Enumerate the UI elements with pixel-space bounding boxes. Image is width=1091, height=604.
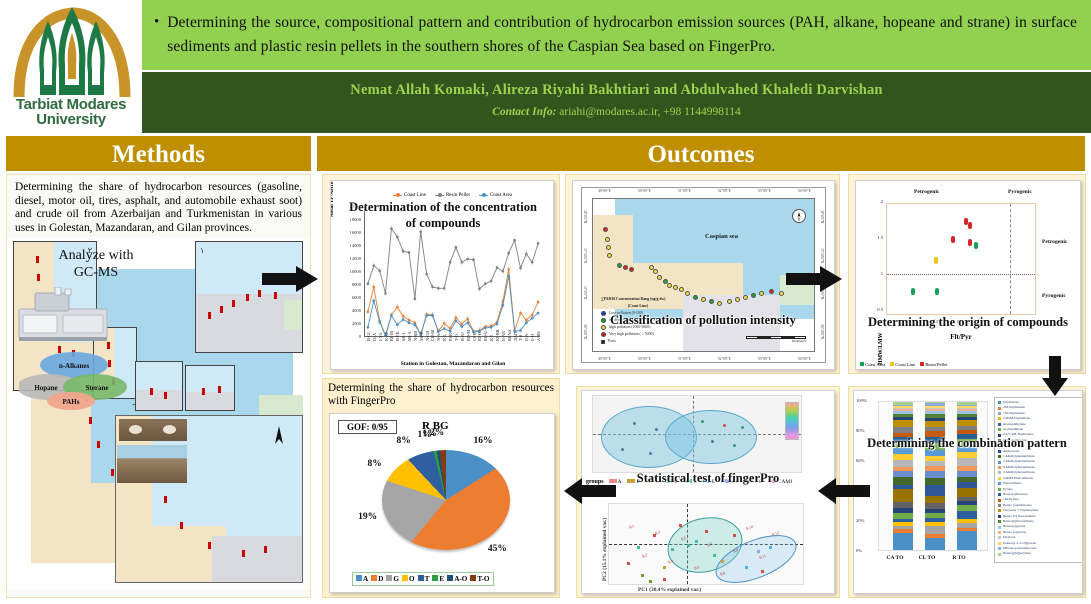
map-sample-dot bbox=[657, 275, 662, 280]
map-sample-dot bbox=[617, 263, 622, 268]
legend-swatch bbox=[998, 412, 1001, 415]
legend-swatch bbox=[998, 520, 1001, 523]
scatter-point bbox=[911, 288, 915, 295]
stack-segment bbox=[893, 533, 913, 549]
origin-y-axis-label: HMW/LMW bbox=[878, 333, 884, 365]
quadrant-label-pyrogenic-top: Pyrogenic bbox=[1008, 189, 1032, 195]
stack-segment bbox=[925, 471, 945, 478]
pca-point bbox=[663, 578, 666, 581]
map-y-tick: 38°0'0"N bbox=[583, 210, 587, 223]
map-sample-dot bbox=[606, 245, 611, 250]
x-tick: JIAII bbox=[513, 332, 518, 341]
x-tick: CH-BI bbox=[430, 330, 435, 341]
legend-swatch bbox=[601, 340, 605, 344]
map-sample-dot bbox=[769, 289, 774, 294]
svg-text:Sterane: Sterane bbox=[86, 384, 109, 392]
map-x-tick: 51°0'0"E bbox=[678, 189, 691, 193]
x-tick: RO-U bbox=[483, 331, 488, 341]
svg-text:n-Alkanes: n-Alkanes bbox=[59, 362, 90, 370]
map-scale-bar: Kilometers bbox=[746, 335, 806, 343]
pca-point-label: K2 bbox=[641, 552, 647, 558]
scatter-point bbox=[934, 257, 938, 264]
pca-point bbox=[721, 560, 724, 563]
pca-point-label: K1 bbox=[628, 523, 634, 529]
legend-item-coast-area: Coast Area bbox=[860, 362, 885, 367]
y-tick: 10000 bbox=[333, 269, 361, 274]
map-sample-dot bbox=[679, 287, 684, 292]
stack-segment bbox=[957, 458, 977, 465]
stacked-y-tick: 60% bbox=[856, 458, 864, 463]
map-sample-dot bbox=[693, 295, 698, 300]
stacked-bar-ca-to bbox=[893, 402, 913, 550]
x-tick: A-BS bbox=[536, 331, 541, 341]
pie-slice-value: 2% bbox=[430, 428, 444, 438]
outcome-panel-fingerpro: Determining the share of hydrocarbon res… bbox=[322, 378, 560, 598]
legend-title-line2: (Coast Line) bbox=[601, 303, 675, 310]
map-canvas: Caspian sea ∑PAH16 Concentration Rang (n… bbox=[592, 198, 815, 352]
x-tick: T-O bbox=[454, 334, 459, 341]
methods-column: Determining the share of hydrocarbon res… bbox=[6, 174, 311, 598]
legend-swatch bbox=[998, 493, 1001, 496]
pca-point bbox=[695, 540, 698, 543]
map-inset-5 bbox=[185, 365, 235, 411]
category-r-to: R TO bbox=[944, 555, 974, 561]
flow-arrow-1-icon bbox=[262, 266, 318, 292]
pca-y-axis-label: PC2 (15.1% explained var.) bbox=[602, 518, 608, 581]
map-sample-dot bbox=[623, 265, 628, 270]
analyze-label-line2: GC-MS bbox=[74, 265, 118, 280]
pca-point bbox=[761, 570, 764, 573]
map-legend-item: Ports bbox=[601, 338, 675, 345]
beach-photo bbox=[117, 445, 187, 483]
legend-title-line1: ∑PAH16 Concentration Rang (ng/g dw) bbox=[601, 296, 675, 303]
concentration-x-axis-label: Station in Golestan, Mazandaran and Gila… bbox=[353, 361, 553, 367]
concentration-chart-legend: Coast Line Resin Pellet Coast Area bbox=[393, 193, 512, 198]
legend-label: Benzo(ghi)perylene bbox=[1003, 551, 1031, 556]
pie-legend-item: D bbox=[371, 575, 383, 583]
scatter-point bbox=[968, 222, 972, 229]
stacked-bar-r-to bbox=[957, 402, 977, 550]
bullet-icon: • bbox=[152, 11, 167, 59]
analyze-label-line1: Analyze with bbox=[58, 248, 133, 263]
map-inset-number-1: ۱ bbox=[200, 246, 204, 255]
stack-segment bbox=[925, 478, 945, 485]
poster-title: Determining the source, compositional pa… bbox=[167, 11, 1077, 59]
map-sample-dot bbox=[717, 301, 722, 306]
title-band: • Determining the source, compositional … bbox=[142, 0, 1091, 70]
x-tick: B-GI bbox=[366, 332, 371, 341]
outcome-panel-concentration: Coast Line Resin Pellet Coast Area Mean … bbox=[322, 174, 560, 374]
y-tick: 4000 bbox=[333, 308, 361, 313]
stack-segment bbox=[957, 531, 977, 550]
map-x-tick: 54°0'0"E bbox=[798, 189, 811, 193]
legend-swatch bbox=[998, 423, 1001, 426]
legend-swatch bbox=[998, 482, 1001, 485]
pie-legend-label: A-O bbox=[454, 575, 467, 583]
step-label-pca: Statistical test of fingerPro bbox=[581, 471, 835, 486]
stack-segment bbox=[893, 477, 913, 484]
pie-slice-value: 8% bbox=[396, 436, 410, 446]
svg-text:Hopane: Hopane bbox=[34, 384, 57, 392]
x-tick: K-I bbox=[489, 335, 494, 341]
origin-x-axis-label: Flt/Pyr bbox=[886, 333, 1036, 341]
combination-card: 0%20%40%60%80%100% CA TO CL TO R TO Naph… bbox=[853, 390, 1083, 594]
outcome-panel-combination: 0%20%40%60%80%100% CA TO CL TO R TO Naph… bbox=[848, 386, 1086, 598]
legend-swatch bbox=[998, 509, 1001, 512]
stack-segment bbox=[925, 485, 945, 495]
map-sample-dot bbox=[653, 269, 658, 274]
legend-swatch bbox=[998, 488, 1001, 491]
origin-y-ticks: 2 1.5 1 0.5 bbox=[856, 201, 886, 315]
x-tick: SH-K bbox=[419, 331, 424, 341]
flow-arrow-3-icon bbox=[1042, 356, 1068, 396]
legend-swatch bbox=[998, 531, 1001, 534]
north-arrow-icon bbox=[274, 426, 284, 446]
stack-segment bbox=[893, 460, 913, 467]
stack-segment bbox=[925, 496, 945, 503]
legend-swatch bbox=[998, 471, 1001, 474]
legend-swatch bbox=[601, 332, 606, 337]
legend-swatch bbox=[998, 515, 1001, 518]
category-cl-to: CL TO bbox=[912, 555, 942, 561]
pie-slice-value: 8% bbox=[367, 459, 381, 469]
x-tick: PI-K bbox=[448, 333, 453, 341]
pie-slice-value: 19% bbox=[358, 512, 377, 522]
pca-point bbox=[663, 566, 666, 569]
x-tick: I-YA bbox=[378, 333, 383, 341]
legend-swatch bbox=[998, 547, 1001, 550]
step-label-fingerpro-share: Determining the share of hydrocarbon res… bbox=[323, 379, 559, 410]
category-ca-to: CA TO bbox=[880, 555, 910, 561]
legend-item-coast-line: Coast Line bbox=[890, 362, 915, 367]
stack-segment bbox=[893, 420, 913, 427]
x-tick: IS-A bbox=[372, 333, 377, 341]
quadrant-label-pyrogenic-right: Pyrogenic bbox=[1042, 293, 1066, 299]
pie-legend-item: O bbox=[402, 575, 415, 583]
pie-legend-label: O bbox=[409, 575, 415, 583]
map-x-tick: 49°0'0"E bbox=[598, 357, 611, 361]
pca-point bbox=[757, 550, 760, 553]
map-sample-dot bbox=[701, 297, 706, 302]
y-tick: 6000 bbox=[333, 295, 361, 300]
map-y-tick: 37°30'0"N bbox=[820, 248, 824, 263]
legend-swatch bbox=[998, 499, 1001, 502]
logo-text: Tarbiat Modares University bbox=[5, 97, 137, 127]
x-tick: BI-NA bbox=[507, 329, 512, 341]
map-y-tick: 38°0'0"N bbox=[820, 210, 824, 223]
map-x-tick: 50°0'0"E bbox=[638, 357, 651, 361]
pca-point bbox=[637, 546, 640, 549]
pca-point bbox=[745, 566, 748, 569]
map-y-tick: 37°30'0"N bbox=[583, 248, 587, 263]
stack-segment bbox=[925, 538, 945, 550]
pie-legend-label: D bbox=[378, 575, 383, 583]
legend-item-resin-pellet: Resin Pellet bbox=[435, 193, 470, 198]
legend-swatch bbox=[998, 526, 1001, 529]
y-tick: 8000 bbox=[333, 282, 361, 287]
pca-point-label: K10 bbox=[745, 524, 753, 531]
map-x-tick: 49°0'0"E bbox=[598, 189, 611, 193]
analyze-label: Analyze with GC-MS bbox=[31, 247, 161, 281]
pca-point bbox=[649, 580, 652, 583]
contact-label: Contact Info: bbox=[492, 106, 556, 118]
map-x-tick: 50°0'0"E bbox=[638, 189, 651, 193]
fingerpro-pie-card: GOF: 0/95 R BG 16%45%19%8%8%1%1%2% ADGOT… bbox=[329, 413, 555, 593]
legend-swatch bbox=[998, 466, 1001, 469]
y-tick: 12000 bbox=[333, 256, 361, 261]
pie-legend-label: G bbox=[393, 575, 399, 583]
logo-name-line1: Tarbiat Modares bbox=[16, 96, 126, 113]
map-sample-dot bbox=[667, 283, 672, 288]
authors-list: Nemat Allah Komaki, Alireza Riyahi Bakht… bbox=[142, 82, 1091, 99]
stack-segment bbox=[957, 488, 977, 497]
map-x-tick: 54°0'0"E bbox=[798, 357, 811, 361]
section-header-outcomes: Outcomes bbox=[317, 136, 1085, 171]
section-header-methods: Methods bbox=[6, 136, 311, 171]
quadrant-label-petrogenic-top: Petrogenic bbox=[914, 189, 939, 195]
pca-top-plot bbox=[592, 395, 802, 473]
poster-header: Tarbiat Modares University • Determining… bbox=[0, 0, 1091, 133]
map-x-tick: 53°0'0"E bbox=[758, 357, 771, 361]
map-x-tick: 51°0'0"E bbox=[678, 357, 691, 361]
x-tick: B-RJ bbox=[460, 332, 465, 341]
gcms-instrument-icon bbox=[15, 287, 113, 343]
pca-point bbox=[671, 548, 674, 551]
map-sample-dot bbox=[709, 299, 714, 304]
pie-legend-item: T-O bbox=[470, 575, 489, 583]
pie-chart-legend: ADGOTEA-OT-O bbox=[352, 572, 494, 586]
resin-pellet-photo bbox=[119, 419, 187, 441]
logo-name-line2: University bbox=[5, 112, 137, 127]
step-label-origin: Determining the origin of compounds bbox=[851, 315, 1085, 330]
pca-card: PCA groups ADGOTEA-OT-OCAM1 K1K2K3K4K5K6… bbox=[581, 390, 835, 594]
map-sample-dot bbox=[727, 299, 732, 304]
methods-paragraph: Determining the share of hydrocarbon res… bbox=[7, 175, 310, 237]
map-sample-dot bbox=[743, 295, 748, 300]
scatter-point bbox=[968, 239, 972, 246]
flow-arrow-2-icon bbox=[786, 266, 842, 292]
stack-segment bbox=[925, 526, 945, 533]
stacked-y-tick: 80% bbox=[856, 428, 864, 433]
pie-legend-item: A-O bbox=[447, 575, 467, 583]
legend-swatch bbox=[998, 553, 1001, 556]
pca-point bbox=[713, 554, 716, 557]
x-tick: II-A bbox=[524, 334, 529, 341]
stacked-y-tick: 0% bbox=[856, 548, 862, 553]
x-tick: II-AR bbox=[501, 331, 506, 341]
scatter-point bbox=[935, 288, 939, 295]
map-sample-dot bbox=[605, 237, 610, 242]
y-tick: 0 bbox=[333, 334, 361, 339]
x-tick: E-O bbox=[530, 334, 535, 341]
pie-legend-item: E bbox=[432, 575, 444, 583]
pca-x-axis-label: PC1 (30.4% explained var.) bbox=[638, 587, 701, 593]
pca-point-label: K3 bbox=[654, 529, 660, 535]
legend-label: Ports bbox=[608, 338, 616, 345]
map-sample-dot bbox=[629, 267, 634, 272]
map-sample-dot bbox=[735, 297, 740, 302]
concentration-y-axis-label: Mean TP-AH16 (ng/g dw) bbox=[330, 180, 335, 217]
pie-legend-item: G bbox=[386, 575, 399, 583]
map-sample-dot bbox=[603, 227, 608, 232]
x-tick: KI-O bbox=[477, 332, 482, 341]
legend-item-coast-line: Coast Line bbox=[393, 193, 426, 198]
legend-item-coast-area: Coast Area bbox=[479, 193, 512, 198]
map-inset-1: ۱ bbox=[195, 241, 303, 353]
stacked-bar-plot bbox=[878, 401, 988, 551]
pie-slice-value: 16% bbox=[474, 436, 493, 446]
stack-segment bbox=[957, 511, 977, 518]
map-sample-dot bbox=[673, 285, 678, 290]
pie-legend-label: A bbox=[363, 575, 368, 583]
pie-legend-label: E bbox=[439, 575, 444, 583]
map-sample-dot bbox=[759, 291, 764, 296]
pca-point bbox=[627, 562, 630, 565]
legend-swatch bbox=[998, 455, 1001, 458]
poster-root: Tarbiat Modares University • Determining… bbox=[0, 0, 1091, 604]
legend-label-resin-pellet: Resin Pellet bbox=[446, 193, 470, 198]
stacked-bar-cl-to bbox=[925, 402, 945, 550]
pca-point bbox=[769, 546, 772, 549]
x-tick: SK-I bbox=[401, 333, 406, 341]
pca-point bbox=[687, 544, 690, 547]
legend-swatch bbox=[998, 542, 1001, 545]
map-sample-dot bbox=[607, 253, 612, 258]
y-tick: 14000 bbox=[333, 243, 361, 248]
pca-point bbox=[679, 524, 682, 527]
legend-label-coast-area: Coast Area bbox=[490, 193, 512, 198]
gof-badge: GOF: 0/95 bbox=[338, 420, 397, 434]
x-tick: T-A bbox=[518, 334, 523, 341]
legend-swatch bbox=[998, 504, 1001, 507]
pie-legend-label: T bbox=[425, 575, 430, 583]
legend-swatch bbox=[998, 407, 1001, 410]
y-tick: 2000 bbox=[333, 321, 361, 326]
step-label-combination: Determining the combination pattern bbox=[853, 435, 1081, 451]
map-legend-item: Very high pollution ( > 5000) bbox=[601, 331, 675, 338]
x-tick: CI-H bbox=[472, 332, 477, 341]
legend-label-coast-line: Coast Line bbox=[404, 193, 426, 198]
x-tick: RO-M bbox=[466, 330, 471, 341]
outcome-panel-origin: Petrogenic Pyrogenic Petrogenic Pyrogeni… bbox=[848, 174, 1086, 374]
contact-info: Contact Info: ariahi@modares.ac.ir, +98 … bbox=[142, 106, 1091, 118]
caspian-sea-label: Caspian sea bbox=[705, 233, 738, 240]
pie-legend-label: T-O bbox=[477, 575, 489, 583]
map-y-tick: 37°0'0"N bbox=[583, 286, 587, 299]
x-tick: MI-A bbox=[407, 331, 412, 341]
map-x-tick: 52°0'0"E bbox=[718, 357, 731, 361]
x-tick: N-RB bbox=[413, 331, 418, 341]
legend-swatch bbox=[998, 428, 1001, 431]
stacked-y-tick: 100% bbox=[856, 398, 867, 403]
svg-text:PAHs: PAHs bbox=[63, 398, 80, 406]
university-logo: Tarbiat Modares University bbox=[0, 0, 142, 133]
x-tick: K-SE bbox=[384, 332, 389, 341]
stacked-legend-item: Benzo(ghi)perylene bbox=[998, 551, 1083, 556]
origin-chart-legend: Coast Area Coast Line Resin Pellet bbox=[860, 362, 947, 367]
origin-scatter-card: Petrogenic Pyrogenic Petrogenic Pyrogeni… bbox=[855, 180, 1081, 370]
x-tick: KI-BB bbox=[495, 330, 500, 341]
map-inset-4 bbox=[135, 361, 183, 411]
pie-chart bbox=[382, 450, 510, 550]
map-sample-dot bbox=[779, 291, 784, 296]
legend-swatch bbox=[998, 461, 1001, 464]
pie-slice-value: 45% bbox=[488, 544, 507, 554]
pie-legend-item: A bbox=[356, 575, 368, 583]
legend-item-resin-pellet: Resin Pellet bbox=[920, 362, 947, 367]
legend-swatch bbox=[998, 536, 1001, 539]
stack-segment bbox=[893, 489, 913, 502]
logo-mark-icon bbox=[13, 5, 131, 101]
legend-swatch bbox=[998, 417, 1001, 420]
quadrant-label-petrogenic-right: Petrogenic bbox=[1042, 239, 1067, 245]
map-x-tick: 53°0'0"E bbox=[758, 189, 771, 193]
authors-band: Nemat Allah Komaki, Alireza Riyahi Bakht… bbox=[142, 72, 1091, 133]
step-label-concentration: Determination of the concentration of co… bbox=[345, 199, 541, 231]
scatter-point bbox=[951, 236, 955, 243]
scatter-point bbox=[974, 242, 978, 249]
legend-swatch bbox=[998, 477, 1001, 480]
x-tick: BI-JB bbox=[389, 331, 394, 341]
pca-bottom-plot: K1K2K3K4K5K6K7K8K9K10K11K12 bbox=[608, 503, 804, 585]
contact-value: ariahi@modares.ac.ir, +98 1144998114 bbox=[559, 106, 741, 118]
map-x-tick: 52°0'0"E bbox=[718, 189, 731, 193]
x-tick: N-CH bbox=[425, 331, 430, 341]
x-tick: N-A bbox=[436, 334, 441, 341]
x-tick: B-EK bbox=[395, 331, 400, 341]
map-sample-dot bbox=[685, 291, 690, 296]
pca-point bbox=[705, 530, 708, 533]
scale-unit: Kilometers bbox=[746, 339, 806, 343]
stacked-bar-legend: Naphtalene2M-Naphtalene1M-Naphtalene2,6D… bbox=[994, 397, 1083, 563]
stacked-y-tick: 20% bbox=[856, 518, 864, 523]
origin-plot-area bbox=[886, 203, 1036, 315]
step-label-pollution: Classification of pollution intensity bbox=[572, 313, 834, 328]
legend-swatch bbox=[998, 401, 1001, 404]
compound-venn-diagram: n-Alkanes Hopane Sterane PAHs bbox=[19, 349, 129, 411]
compass-icon bbox=[792, 209, 806, 223]
pie-legend-item: T bbox=[418, 575, 430, 583]
pca-point bbox=[641, 574, 644, 577]
map-sample-dot bbox=[751, 293, 756, 298]
pca-point bbox=[733, 534, 736, 537]
x-tick: K-L bbox=[442, 334, 447, 341]
legend-label: Very high pollution ( > 5000) bbox=[609, 331, 654, 338]
pca-colorbar bbox=[785, 402, 799, 440]
